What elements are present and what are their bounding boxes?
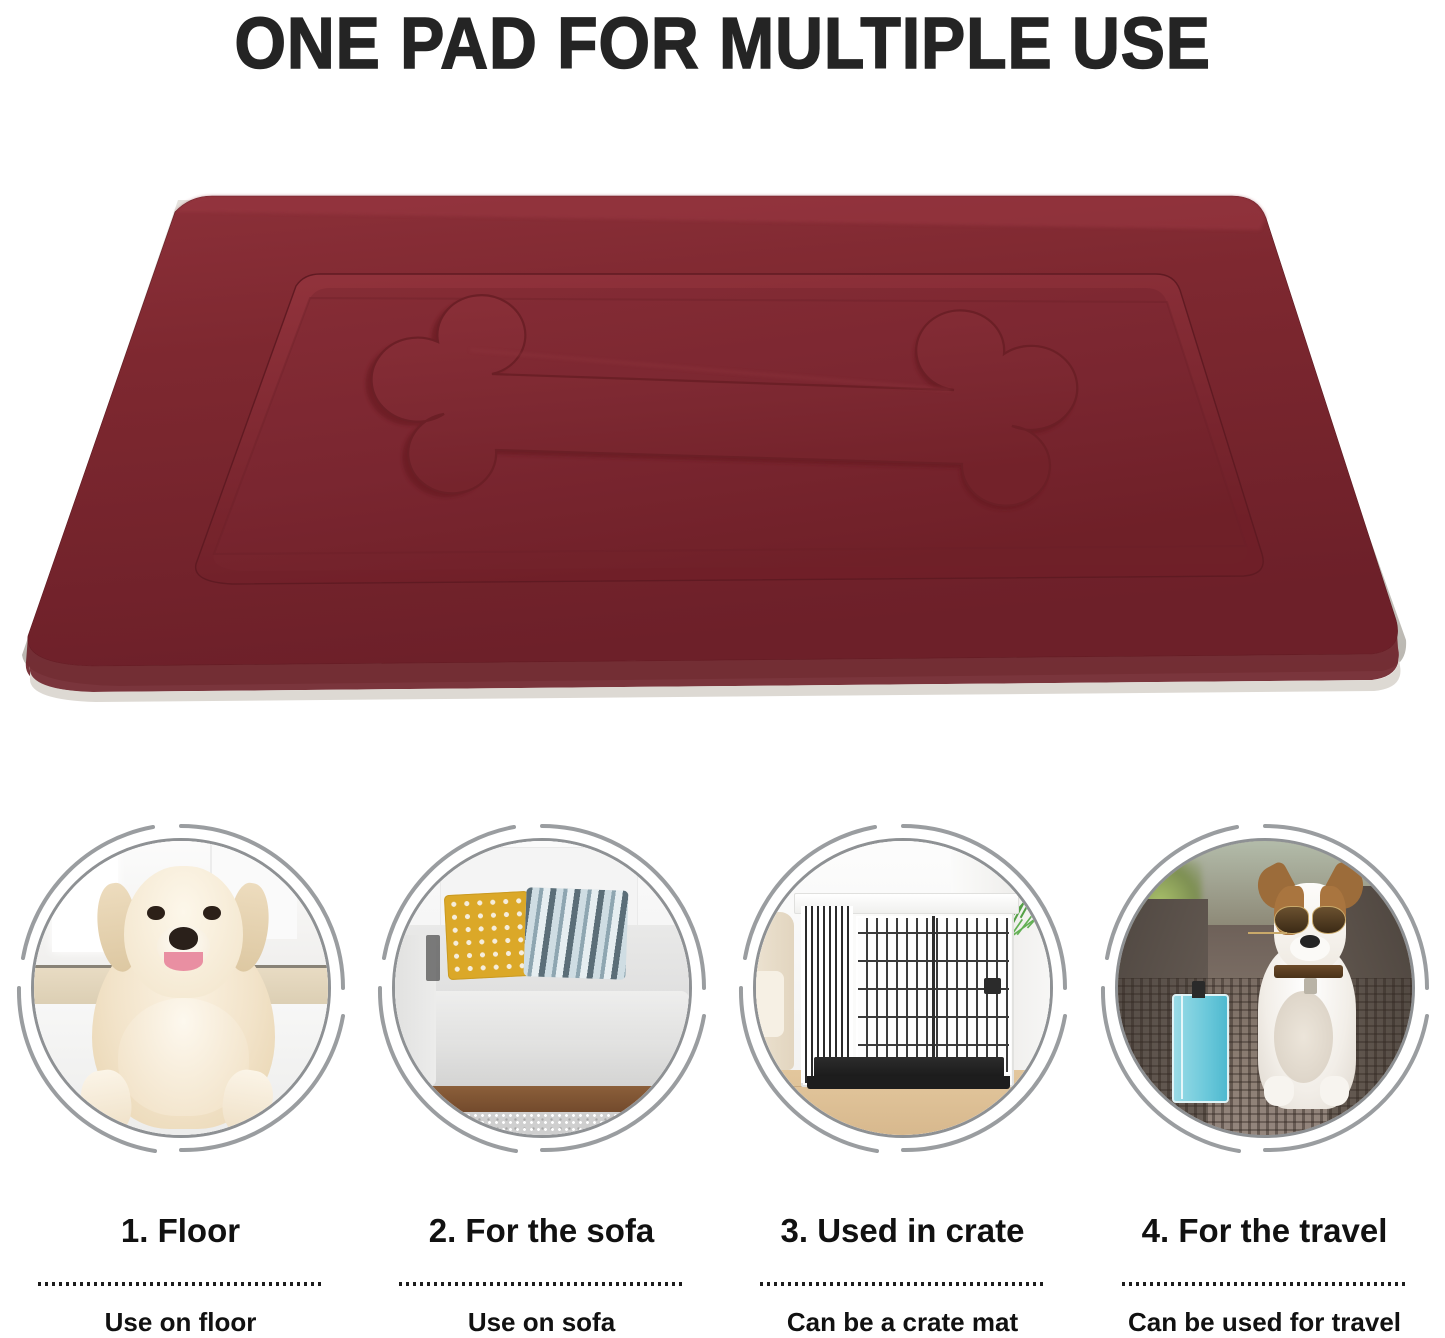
use-case-subtitle: Can be a crate mat	[722, 1307, 1083, 1338]
scene-art-floor	[31, 838, 331, 1138]
scene-photo-crate	[753, 838, 1053, 1138]
caption-divider	[1122, 1282, 1408, 1286]
use-case-card-sofa: 2. For the sofa Use on sofa	[361, 812, 722, 1336]
photo-circle-sofa	[374, 820, 710, 1156]
caption-divider	[760, 1282, 1046, 1286]
use-case-title: 2. For the sofa	[361, 1212, 722, 1250]
use-case-card-crate: 3. Used in crate Can be a crate mat	[722, 812, 1083, 1336]
use-case-subtitle: Use on floor	[0, 1307, 361, 1338]
scene-art-travel	[1115, 838, 1415, 1138]
use-case-card-floor: 1. Floor Use on floor	[0, 812, 361, 1336]
page-title-text: ONE PAD FOR MULTIPLE USE	[234, 8, 1210, 80]
product-hero-image	[0, 150, 1445, 740]
photo-circle-floor	[13, 820, 349, 1156]
photo-circle-crate	[735, 820, 1071, 1156]
use-case-title: 4. For the travel	[1084, 1212, 1445, 1250]
use-case-subtitle: Use on sofa	[361, 1307, 722, 1338]
scene-photo-sofa	[392, 838, 692, 1138]
use-case-title: 1. Floor	[0, 1212, 361, 1250]
scene-art-sofa	[392, 838, 692, 1138]
use-cases-row: 1. Floor Use on floor	[0, 812, 1445, 1336]
caption-divider	[38, 1282, 324, 1286]
use-case-subtitle: Can be used for travel	[1084, 1307, 1445, 1338]
scene-photo-travel	[1115, 838, 1415, 1138]
caption-divider	[399, 1282, 685, 1286]
page-title: ONE PAD FOR MULTIPLE USE	[0, 0, 1445, 88]
scene-art-crate	[753, 838, 1053, 1138]
use-case-card-travel: 4. For the travel Can be used for travel	[1084, 812, 1445, 1336]
scene-photo-floor	[31, 838, 331, 1138]
dog-pad-illustration	[0, 150, 1445, 740]
use-case-title: 3. Used in crate	[722, 1212, 1083, 1250]
photo-circle-travel	[1097, 820, 1433, 1156]
